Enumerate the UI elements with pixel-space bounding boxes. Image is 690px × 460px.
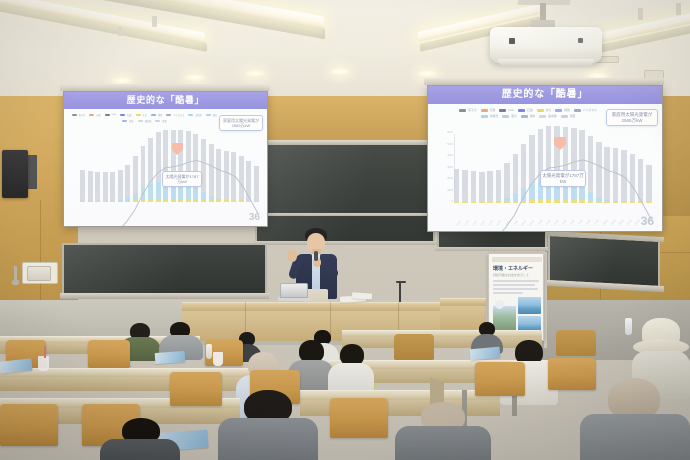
x-tick-label: 1:00	[464, 220, 470, 226]
leaflet[interactable]	[155, 351, 186, 364]
chart-bar	[201, 139, 206, 203]
bar-segment	[201, 200, 206, 202]
chart-bar	[125, 165, 130, 203]
legend-label: 連系線	[145, 119, 152, 123]
leaflet[interactable]	[470, 347, 501, 361]
lecture-hall-scene: 歴史的な「酷暑」 原子力石炭LNG石油水力地熱バイオマス太陽光風力揚水連系線需要…	[0, 0, 690, 460]
key-hook	[14, 266, 17, 280]
chart-bar	[479, 172, 484, 203]
legend-swatch	[120, 114, 125, 117]
chart-bars	[454, 134, 652, 203]
poster-title: 環境・エネルギー	[493, 265, 533, 272]
bar-segment	[254, 166, 259, 201]
legend-swatch	[155, 120, 160, 123]
x-tick-label: 8:00	[521, 220, 527, 226]
chart-bar	[630, 154, 635, 203]
y-tick-label: 2000	[447, 177, 453, 180]
bar-segment	[156, 199, 161, 202]
light-hanger	[676, 3, 681, 15]
chart-bar	[546, 126, 551, 203]
chair[interactable]	[475, 362, 525, 396]
chart-bar	[604, 146, 609, 203]
legend-label: 石炭	[96, 113, 100, 117]
bar-segment	[579, 200, 584, 203]
chair[interactable]	[394, 334, 434, 360]
bar-segment	[231, 200, 236, 202]
bar-segment	[239, 200, 244, 202]
chart-bar	[571, 128, 576, 203]
chair[interactable]	[170, 372, 222, 406]
projector-sensor-icon	[578, 38, 583, 43]
left-screen-housing	[60, 84, 270, 91]
y-tick-label: 0	[452, 200, 453, 203]
chart-legend: 原子力石炭LNG石油水力地熱バイオマス太陽光風力揚水連系線需要	[450, 108, 606, 118]
recessed-downlight	[330, 68, 350, 75]
bar-segment	[186, 199, 191, 202]
legend-swatch	[518, 109, 525, 112]
chair[interactable]	[0, 404, 58, 446]
bar-segment	[246, 201, 251, 202]
chart-bar	[133, 156, 138, 202]
chart-bar	[646, 165, 651, 203]
bar-segment	[513, 193, 518, 201]
chart-bar	[513, 154, 518, 203]
callout-mid: 太陽光発電が1787万kW	[162, 171, 202, 187]
legend-label: バイオマス	[173, 113, 184, 117]
legend-label: 地熱	[564, 108, 570, 112]
chair[interactable]	[556, 330, 596, 356]
bar-segment	[148, 184, 153, 199]
legend-label: 石油	[527, 108, 533, 112]
x-tick-label: 10:00	[537, 219, 544, 226]
bar-segment	[596, 201, 601, 203]
chair[interactable]	[88, 340, 130, 368]
chart-bar	[621, 150, 626, 203]
chart-bar	[239, 156, 244, 202]
x-tick-label: 17:00	[593, 219, 600, 226]
chart-bar	[103, 172, 108, 202]
legend-swatch	[188, 114, 193, 117]
x-tick-label: 16:00	[585, 219, 592, 226]
bar-segment	[216, 149, 221, 199]
handheld-microphone	[314, 251, 318, 261]
bar-segment	[163, 199, 168, 202]
left-projection-screen: 歴史的な「酷暑」 原子力石炭LNG石油水力地熱バイオマス太陽光風力揚水連系線需要…	[63, 91, 268, 227]
arrow-marker	[172, 143, 183, 150]
bar-segment	[103, 201, 108, 202]
chair[interactable]	[548, 358, 596, 390]
legend-swatch	[72, 114, 77, 117]
bar-segment	[513, 154, 518, 193]
x-tick-label: 3:00	[480, 220, 486, 226]
chart-legend: 原子力石炭LNG石油水力地熱バイオマス太陽光風力揚水連系線需要	[70, 113, 219, 123]
gooseneck-mic-stand	[399, 283, 401, 302]
legend-label: 原子力	[468, 108, 476, 112]
x-tick-label: 22:00	[634, 219, 641, 226]
chart-bar	[487, 171, 492, 203]
laptop-screen[interactable]	[280, 283, 308, 298]
bar-segment	[239, 156, 244, 201]
recessed-downlight	[112, 77, 132, 84]
x-tick-label: 6:00	[505, 220, 511, 226]
board-glare	[64, 245, 265, 293]
bar-segment	[471, 202, 476, 203]
legend-item: 地熱	[555, 108, 570, 112]
bar-segment	[156, 132, 161, 181]
y-tick-label: 3000	[447, 166, 453, 169]
legend-label: 需要	[162, 119, 166, 123]
bar-segment	[646, 165, 651, 202]
slide-title: 歴史的な「酷暑」	[64, 92, 267, 109]
bar-segment	[571, 200, 576, 203]
legend-swatch	[206, 114, 211, 117]
bar-segment	[141, 200, 146, 202]
x-tick-label: 2:00	[472, 220, 478, 226]
poster-text-line	[493, 288, 538, 290]
legend-label: 風力	[511, 114, 517, 118]
bar-segment	[80, 201, 85, 202]
y-tick-label: 5000	[447, 143, 453, 146]
poster-stand-leg	[544, 252, 547, 348]
legend-item: 石炭	[481, 108, 496, 112]
legend-item: 原子力	[72, 113, 86, 117]
x-tick-label: 21:00	[626, 219, 633, 226]
chalkboard-rail-top	[253, 141, 437, 145]
chart-bar	[110, 172, 115, 202]
chart-bar	[613, 148, 618, 203]
bar-segment	[529, 200, 534, 203]
recessed-downlight	[185, 74, 205, 81]
left-slide: 歴史的な「酷暑」 原子力石炭LNG石油水力地熱バイオマス太陽光風力揚水連系線需要…	[64, 92, 267, 226]
bar-segment	[471, 171, 476, 202]
bar-segment	[621, 201, 626, 203]
slide-body: 原子力石炭LNG石油水力地熱バイオマス太陽光風力揚水連系線需要 01000200…	[428, 104, 662, 231]
arrow-marker-tip	[554, 145, 566, 150]
attendee-front-center	[395, 402, 491, 460]
bar-segment	[88, 201, 93, 202]
legend-label: 需要	[570, 114, 576, 118]
bar-segment	[88, 171, 93, 201]
legend-swatch	[555, 109, 562, 112]
bar-segment	[596, 142, 601, 197]
x-tick-label: 7:00	[513, 220, 519, 226]
x-tick-label: 12:00	[553, 219, 560, 226]
chart-bar	[462, 170, 467, 203]
paper-cup[interactable]	[213, 352, 223, 366]
x-tick-label: 13:00	[561, 219, 568, 226]
legend-swatch	[105, 114, 110, 117]
chart-bar	[254, 166, 259, 202]
poster-subtitle: 持続可能な社会をめざして	[493, 273, 529, 277]
bar-segment	[521, 188, 526, 201]
legend-item: 原子力	[459, 108, 476, 112]
bar-segment	[504, 163, 509, 198]
legend-item: 風力	[502, 114, 517, 118]
bar-segment	[496, 170, 501, 202]
speaker-bracket	[28, 155, 37, 189]
bar-segment	[588, 201, 593, 203]
legend-label: LNG	[112, 114, 117, 116]
bar-segment	[224, 151, 229, 201]
recessed-downlight	[245, 70, 265, 77]
bar-segment	[178, 199, 183, 202]
chart-bar	[193, 134, 198, 202]
legend-item: LNG	[105, 113, 117, 117]
x-tick-label: 20:00	[618, 219, 625, 226]
legend-swatch	[122, 120, 127, 123]
bar-segment	[133, 156, 138, 193]
chart-bar	[156, 132, 161, 202]
slide-body: 原子力石炭LNG石油水力地熱バイオマス太陽光風力揚水連系線需要 家庭用太陽光発電…	[64, 109, 267, 226]
chart-bar	[454, 169, 459, 203]
bar-segment	[588, 136, 593, 192]
chalkboard-left	[62, 243, 267, 295]
bar-segment	[133, 193, 138, 201]
chart-bar	[141, 146, 146, 202]
bar-segment	[246, 161, 251, 201]
legend-swatch	[481, 115, 488, 118]
legend-label: 太陽光	[195, 113, 202, 117]
legend-label: 揚水	[129, 119, 133, 123]
bar-segment	[231, 152, 236, 200]
legend-label: 太陽光	[490, 114, 498, 118]
board-glare	[257, 145, 433, 241]
chart-bar	[186, 131, 191, 202]
x-tick-label: 18:00	[602, 219, 609, 226]
paper-cup[interactable]	[38, 356, 49, 371]
bar-segment	[504, 201, 509, 203]
chalkboard-rail-mid	[253, 213, 437, 216]
legend-item: 連系線	[539, 114, 556, 118]
chalk-tray-left	[60, 293, 269, 299]
legend-swatch	[537, 109, 544, 112]
bar-segment	[125, 165, 130, 198]
bar-segment	[148, 138, 153, 184]
slide-title: 歴史的な「酷暑」	[428, 86, 662, 104]
chart-bar	[521, 144, 526, 203]
legend-item: バイオマス	[574, 108, 597, 112]
legend-label: 水力	[143, 113, 147, 117]
legend-swatch	[481, 109, 488, 112]
legend-label: LNG	[508, 108, 514, 112]
wood-wall-center	[240, 96, 435, 140]
desk-row-far-right	[342, 330, 542, 337]
bar-segment	[125, 201, 130, 203]
legend-item: バイオマス	[166, 113, 184, 117]
chalkboard-right-side	[548, 234, 660, 288]
legend-label: バイオマス	[583, 108, 597, 112]
x-tick-label: 9:00	[529, 220, 535, 226]
right-screen-housing	[424, 78, 664, 85]
legend-item: 石炭	[89, 113, 100, 117]
legend-item: 水力	[537, 108, 552, 112]
legend-item: 地熱	[151, 113, 162, 117]
poster-header-bar	[492, 257, 542, 262]
bar-segment	[630, 201, 635, 203]
legend-item: 揚水	[122, 119, 133, 123]
bar-segment	[638, 159, 643, 201]
legend-swatch	[521, 115, 528, 118]
chart-bar	[118, 170, 123, 202]
legend-swatch	[136, 114, 141, 117]
legend-swatch	[89, 114, 94, 117]
bar-segment	[613, 148, 618, 201]
legend-label: 原子力	[79, 113, 86, 117]
attendee-foreground-gray	[218, 390, 318, 460]
legend-item: 連系線	[138, 119, 152, 123]
bar-segment	[141, 188, 146, 200]
bar-segment	[110, 201, 115, 202]
presenter-hand-left	[287, 250, 297, 262]
legend-item: 需要	[561, 114, 576, 118]
legend-swatch	[502, 115, 509, 118]
chart-bars	[80, 137, 259, 202]
bar-segment	[579, 187, 584, 200]
projector-vent	[523, 61, 549, 65]
legend-label: 揚水	[530, 114, 536, 118]
bar-segment	[529, 135, 534, 184]
chart-bar	[224, 151, 229, 203]
legend-item: LNG	[499, 108, 514, 112]
bar-segment	[604, 147, 609, 200]
gooseneck-mic-head	[396, 281, 406, 283]
bar-segment	[538, 200, 543, 203]
chart-bar	[171, 130, 176, 202]
bar-segment	[613, 201, 618, 203]
x-tick-label: 5:00	[496, 220, 502, 226]
bar-segment	[521, 201, 526, 203]
attendee-gray-shirt-front	[580, 392, 690, 460]
bar-segment	[254, 201, 259, 202]
callout-mid: 太陽光発電が1787万kW	[540, 170, 586, 187]
bar-segment	[462, 170, 467, 201]
bar-segment	[621, 150, 626, 201]
water-bottle[interactable]	[206, 344, 212, 359]
lectern-top	[182, 302, 450, 311]
bar-segment	[193, 200, 198, 202]
bar-segment	[513, 201, 518, 203]
chart-bar	[538, 129, 543, 203]
wall-control-panel[interactable]	[27, 266, 51, 281]
chart-bar	[504, 163, 509, 203]
poster-photo-sea	[518, 297, 541, 314]
bar-segment	[462, 202, 467, 203]
bar-segment	[118, 201, 123, 202]
legend-swatch	[459, 109, 466, 112]
callout-top: 家庭用太陽光発電が2565万kW	[219, 115, 263, 131]
bar-segment	[141, 146, 146, 188]
legend-label: 地熱	[158, 113, 162, 117]
y-tick-label: 4000	[447, 154, 453, 157]
bar-segment	[646, 202, 651, 203]
chalkboard-rail-bottom	[435, 247, 549, 251]
bar-segment	[588, 192, 593, 201]
legend-item: 石油	[120, 113, 131, 117]
chair[interactable]	[330, 398, 388, 438]
bar-segment	[156, 182, 161, 200]
right-projection-screen: 歴史的な「酷暑」 原子力石炭LNG石油水力地熱バイオマス太陽光風力揚水連系線需要…	[427, 85, 663, 232]
bar-segment	[604, 201, 609, 203]
bar-segment	[479, 172, 484, 202]
bar-segment	[638, 201, 643, 203]
chart-bar	[148, 138, 153, 202]
drinking-straw	[44, 346, 46, 358]
chart-bar	[88, 171, 93, 202]
bar-segment	[118, 170, 123, 200]
chart-bar	[80, 170, 85, 202]
poster-text-line	[493, 280, 539, 282]
projector-lens-icon	[509, 38, 515, 44]
bar-segment	[487, 202, 492, 203]
poster-text-line	[493, 292, 523, 294]
bar-segment	[110, 172, 115, 201]
chart-bar	[496, 169, 501, 203]
legend-item: 石油	[518, 108, 533, 112]
chart-bar	[596, 142, 601, 203]
bar-segment	[529, 184, 534, 200]
bar-segment	[80, 170, 85, 200]
x-tick-label: 19:00	[610, 219, 617, 226]
bar-segment	[95, 201, 100, 202]
light-hanger	[152, 16, 157, 27]
wall-speaker	[2, 150, 28, 198]
bar-segment	[454, 202, 459, 203]
recessed-downlight	[417, 70, 437, 77]
bar-segment	[201, 192, 206, 200]
key-tag	[12, 280, 19, 285]
bar-segment	[563, 200, 568, 203]
chart-bar	[471, 171, 476, 203]
legend-item: 水力	[136, 113, 147, 117]
bar-segment	[521, 144, 526, 188]
chart-bar	[246, 161, 251, 202]
bar-segment	[554, 200, 559, 203]
legend-label: 水力	[546, 108, 552, 112]
legend-swatch	[151, 114, 156, 117]
attendee-foreground-dark	[100, 418, 180, 460]
chart-plot-area: 0100020003000400050006000	[454, 134, 652, 203]
callout-top: 家庭用太陽光発電が2565万kW	[606, 109, 658, 126]
slide-page-number: 36	[249, 212, 260, 223]
poster-circle-graphic	[495, 300, 504, 309]
light-hanger	[638, 8, 643, 20]
legend-swatch	[166, 114, 171, 117]
arrow-marker	[554, 137, 566, 145]
x-tick-label: 0:00	[456, 220, 462, 226]
bar-segment	[133, 200, 138, 202]
x-tick-label: 4:00	[488, 220, 494, 226]
bar-segment	[454, 169, 459, 201]
poster-text-line	[493, 284, 535, 286]
slide-page-number: 36	[641, 214, 654, 228]
legend-swatch	[574, 109, 581, 112]
attendee-torso	[395, 426, 491, 460]
legend-swatch	[539, 115, 546, 118]
right-slide: 歴史的な「酷暑」 原子力石炭LNG石油水力地熱バイオマス太陽光風力揚水連系線需要…	[428, 86, 662, 231]
board-glare	[550, 236, 658, 286]
chart-bar	[579, 130, 584, 203]
attendee-torso	[100, 439, 180, 460]
legend-label: 石炭	[490, 108, 496, 112]
arrow-marker-tip	[172, 150, 183, 155]
chart-bar	[216, 149, 221, 202]
legend-item: 需要	[155, 119, 166, 123]
chart-plot-area	[80, 137, 259, 202]
legend-item: 太陽光	[481, 114, 498, 118]
bar-segment	[193, 187, 198, 199]
light-hanger	[118, 27, 122, 36]
legend-item: 太陽光	[188, 113, 202, 117]
